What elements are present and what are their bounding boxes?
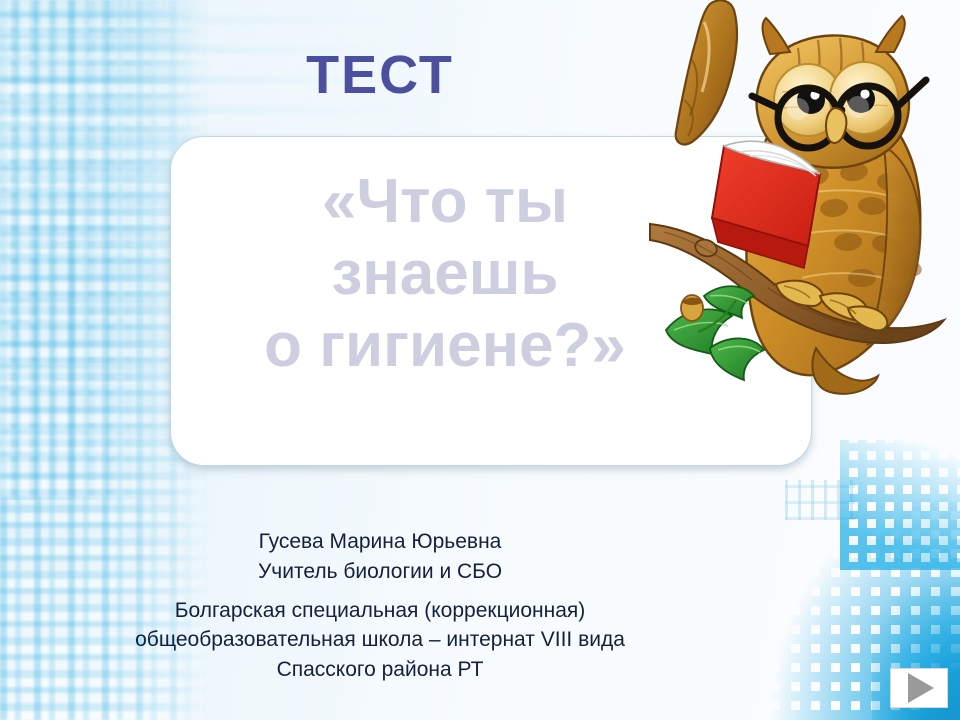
owl-with-glasses-reading-book-icon — [648, 0, 960, 400]
presentation-slide: ТЕСТ «Что ты знаешь о гигиене?» — [0, 0, 960, 720]
background-pixel-mosaic-right — [840, 440, 960, 570]
author-name: Гусева Марина Юрьевна — [40, 527, 720, 557]
school-line-3: Спасского района РТ — [40, 655, 720, 685]
author-role: Учитель биологии и СБО — [40, 557, 720, 587]
page-title: ТЕСТ — [0, 44, 760, 106]
next-slide-button[interactable] — [890, 668, 948, 708]
author-credits: Гусева Марина Юрьевна Учитель биологии и… — [40, 527, 720, 685]
play-arrow-icon — [908, 673, 934, 703]
school-line-1: Болгарская специальная (коррекционная) — [40, 596, 720, 626]
school-line-2: общеобразовательная школа – интернат VII… — [40, 625, 720, 655]
